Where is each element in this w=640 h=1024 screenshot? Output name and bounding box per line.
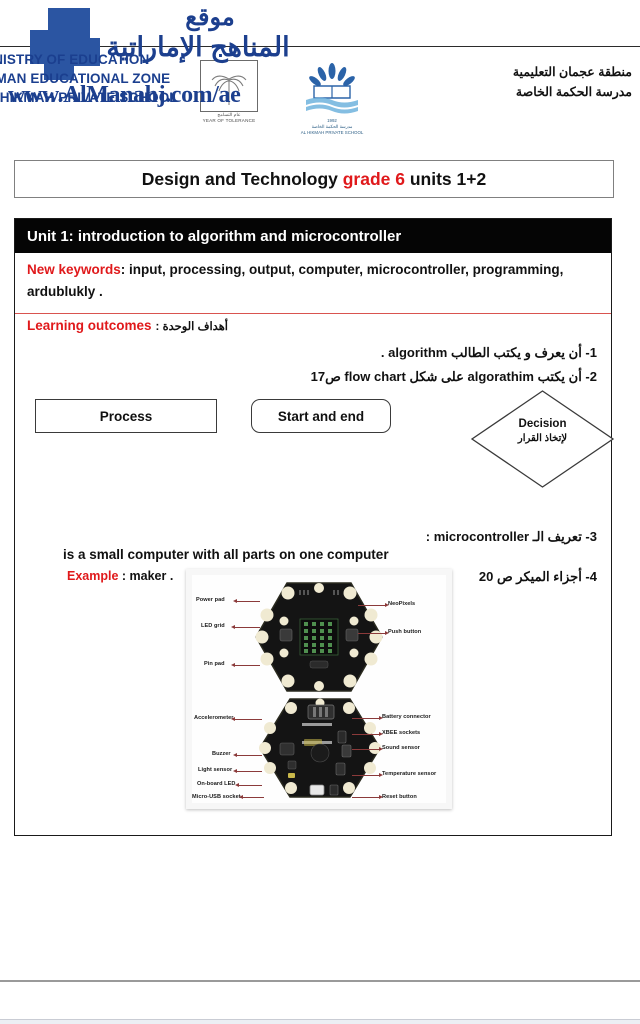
new-keywords-line: New keywords: input, processing, output,…	[27, 259, 587, 303]
leader-line	[352, 797, 380, 798]
leader-line	[352, 749, 380, 750]
leader-line	[236, 755, 262, 756]
figure-label-led-grid: LED grid	[201, 623, 225, 629]
leader-line	[236, 771, 262, 772]
school-crest-icon	[300, 62, 364, 124]
header-right-line-1: منطقة عجمان التعليمية	[402, 62, 632, 82]
figure-label-sound-sensor: Sound sensor	[382, 745, 420, 751]
page-title: Design and Technology grade 6 units 1+2	[14, 160, 614, 198]
flowchart-decision-shape: Decision لإتخاذ القرار	[470, 389, 615, 489]
leader-line	[238, 785, 262, 786]
decision-label-en: Decision	[470, 417, 615, 432]
leader-line	[242, 797, 264, 798]
example-label: Example	[67, 569, 118, 583]
school-logo-icon	[300, 62, 364, 124]
school-logo-caption: 1992 مدرسة الحكمة الخاصة AL HIKMAH PRIVA…	[286, 118, 378, 136]
example-line: Example : maker .	[67, 569, 173, 583]
page-header: MINISTRY OF EDUCATION AJMAN EDUCATIONAL …	[0, 0, 640, 140]
title-highlight: grade 6	[343, 169, 405, 189]
leader-line	[358, 605, 386, 606]
page-title-text: Design and Technology grade 6 units 1+2	[142, 169, 486, 190]
figure-label-battery-connector: Battery connector	[382, 714, 431, 720]
learning-outcomes-list: 1- أن يعرف و يكتب الطالب algorithm . 2- …	[167, 341, 597, 389]
header-left-line-1: MINISTRY OF EDUCATION	[0, 50, 228, 69]
palm-tree-icon	[208, 67, 250, 107]
top-board-illustration	[254, 581, 384, 693]
decision-labels: Decision لإتخاذ القرار	[470, 417, 615, 446]
definition-text-en: is a small computer with all parts on on…	[63, 547, 483, 562]
leader-line	[352, 775, 380, 776]
page-footer-rule	[0, 980, 640, 982]
definition-item-3: 3- تعريف الـ microcontroller :	[167, 529, 597, 545]
header-right-line-2: مدرسة الحكمة الخاصة	[402, 82, 632, 102]
bottom-board-illustration	[258, 697, 382, 799]
unit-heading-bar: Unit 1: introduction to algorithm and mi…	[15, 219, 611, 253]
figure-label-temperature-sensor: Temperature sensor	[382, 771, 436, 777]
learning-outcomes-label-ar: : أهداف الوحدة	[156, 321, 228, 333]
page-end-band	[0, 1020, 640, 1024]
figure-label-pin-pad: Pin pad	[204, 661, 225, 667]
leader-line	[234, 665, 260, 666]
learning-outcomes-heading: Learning outcomes: أهداف الوحدة	[27, 317, 587, 339]
figure-label-buzzer: Buzzer	[212, 751, 231, 757]
microbit-parts-figure: Power pad LED grid Pin pad NeoPixels Pus…	[186, 569, 452, 809]
school-caption-en: AL HIKMAH PRIVATE SCHOOL	[286, 130, 378, 136]
header-left-text: MINISTRY OF EDUCATION AJMAN EDUCATIONAL …	[0, 50, 228, 107]
content-box: Unit 1: introduction to algorithm and mi…	[14, 218, 612, 836]
figure-label-power-pad: Power pad	[196, 597, 225, 603]
leader-line	[352, 718, 380, 719]
header-right-text: منطقة عجمان التعليمية مدرسة الحكمة الخاص…	[402, 62, 632, 102]
leader-line	[352, 734, 380, 735]
figure-label-on-board-led: On-board LED	[197, 781, 236, 787]
title-part-1: Design and Technology	[142, 169, 343, 189]
figure-label-reset-button: Reset button	[382, 794, 417, 800]
flowchart-start-end-shape: Start and end	[251, 399, 391, 433]
tolerance-caption-en: YEAR OF TOLERANCE	[196, 118, 262, 124]
header-left-line-2: AJMAN EDUCATIONAL ZONE	[0, 69, 228, 88]
example-value: : maker .	[118, 569, 173, 583]
title-part-2: units 1+2	[405, 169, 486, 189]
watermark-line-1: موقع	[120, 3, 300, 32]
document-page: MINISTRY OF EDUCATION AJMAN EDUCATIONAL …	[0, 0, 640, 1024]
leader-line	[358, 633, 386, 634]
figure-label-micro-usb-socket: Micro-USB socket	[192, 794, 241, 800]
section-divider-red	[15, 313, 611, 314]
flowchart-process-shape: Process	[35, 399, 217, 433]
list-item: 2- أن يكتب algorathim على شكل flow chart…	[167, 365, 597, 389]
year-of-tolerance-icon	[200, 60, 258, 112]
figure-label-xbee-sockets: XBEE sockets	[382, 730, 420, 736]
figure-label-light-sensor: Light sensor	[198, 767, 232, 773]
tolerance-caption: عام التسامح YEAR OF TOLERANCE	[196, 112, 262, 124]
figure-label-neopixels: NeoPixels	[388, 601, 415, 607]
leader-line	[234, 627, 260, 628]
list-item: 1- أن يعرف و يكتب الطالب algorithm .	[167, 341, 597, 365]
figure-canvas: Power pad LED grid Pin pad NeoPixels Pus…	[192, 575, 446, 803]
learning-outcomes-label-en: Learning outcomes	[27, 318, 152, 333]
leader-line	[234, 719, 262, 720]
flowchart-symbols: Process Start and end Decision لإتخاذ ال…	[15, 399, 611, 509]
decision-label-ar: لإتخاذ القرار	[470, 432, 615, 446]
figure-label-accelerometer: Accelerometer	[194, 715, 234, 721]
unit-heading-text: Unit 1: introduction to algorithm and mi…	[15, 228, 401, 245]
header-left-line-3: AL HIKMAH PRIVATE SCHOOL	[0, 88, 228, 107]
figure-label-push-button: Push button	[388, 629, 421, 635]
leader-line	[236, 601, 260, 602]
new-keywords-label: New keywords	[27, 262, 121, 277]
